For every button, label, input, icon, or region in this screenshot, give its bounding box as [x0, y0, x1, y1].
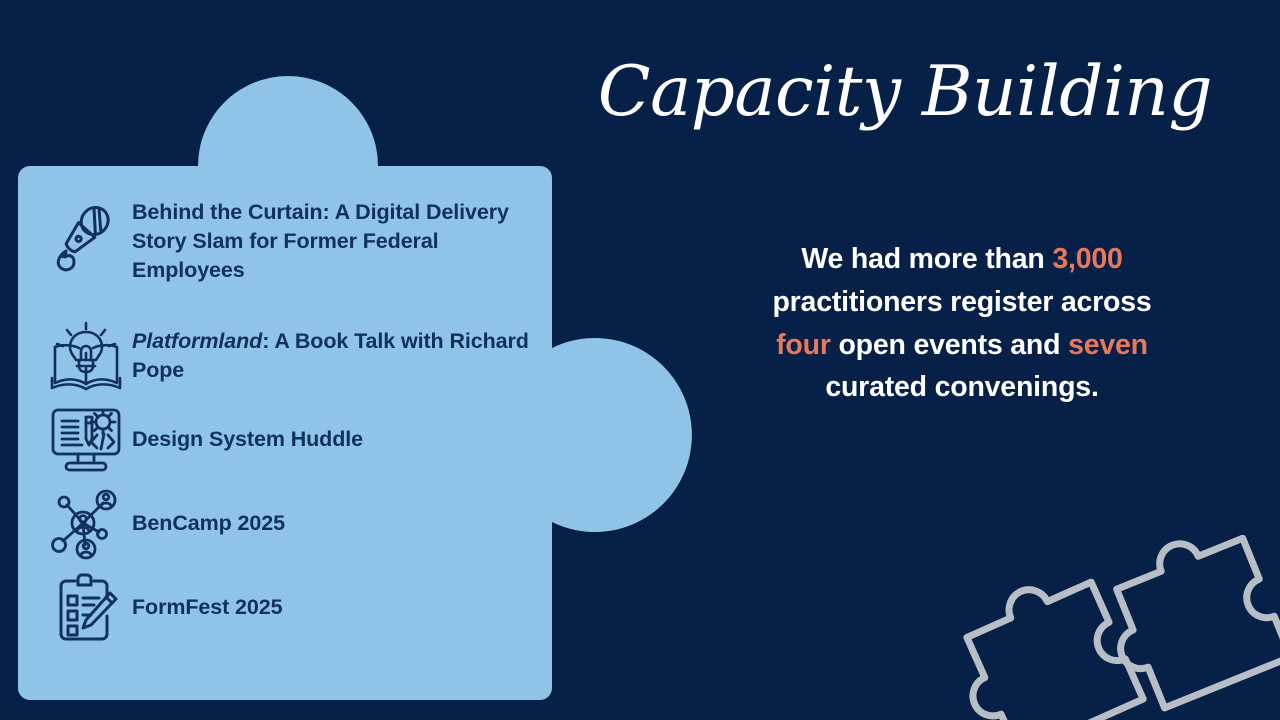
stat-highlight: four [776, 329, 831, 361]
stat-highlight: 3,000 [1052, 243, 1122, 275]
microphone-icon [40, 198, 132, 280]
monitor-code-icon [40, 399, 132, 481]
stat-text: We had more than [801, 243, 1052, 275]
list-item[interactable]: Behind the Curtain: A Digital Delivery S… [40, 190, 530, 314]
list-item-label: Platformland: A Book Talk with Richard P… [132, 327, 530, 385]
lightbulb-book-icon [40, 315, 132, 397]
list-item-label: Behind the Curtain: A Digital Delivery S… [132, 198, 530, 286]
list-item[interactable]: FormFest 2025 [40, 566, 530, 650]
stat-highlight: seven [1068, 329, 1148, 361]
decorative-puzzle-outlines [950, 535, 1280, 720]
stat-text: open events and [831, 329, 1068, 361]
people-network-icon [40, 483, 132, 565]
page-title: Capacity Building [598, 56, 1212, 128]
event-list: Behind the Curtain: A Digital Delivery S… [40, 190, 530, 650]
clipboard-pencil-icon [40, 567, 132, 649]
stat-statement: We had more than 3,000 practitioners reg… [742, 238, 1182, 409]
list-item[interactable]: Platformland: A Book Talk with Richard P… [40, 314, 530, 398]
stat-text: practitioners register across [772, 286, 1151, 318]
slide-canvas: Behind the Curtain: A Digital Delivery S… [0, 0, 1280, 720]
list-item[interactable]: Design System Huddle [40, 398, 530, 482]
list-item-label: BenCamp 2025 [132, 509, 285, 538]
list-item-label: FormFest 2025 [132, 593, 282, 622]
stat-text: curated convenings. [825, 371, 1098, 403]
list-item[interactable]: BenCamp 2025 [40, 482, 530, 566]
list-item-label: Design System Huddle [132, 425, 363, 454]
